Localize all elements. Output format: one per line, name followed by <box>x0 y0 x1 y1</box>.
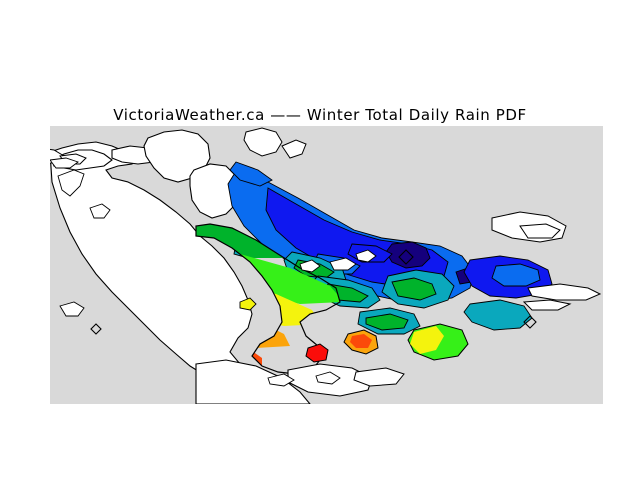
weather-map-page: VictoriaWeather.ca —— Winter Total Daily… <box>0 0 640 480</box>
plot-left-margin <box>0 126 50 404</box>
plot-right-margin <box>603 126 640 404</box>
page-title: VictoriaWeather.ca —— Winter Total Daily… <box>0 106 640 124</box>
map-plot-area <box>0 126 640 404</box>
colorbar-legend: 1617181920212223242526 95th percentile o… <box>0 420 640 480</box>
contour-map <box>0 126 640 404</box>
